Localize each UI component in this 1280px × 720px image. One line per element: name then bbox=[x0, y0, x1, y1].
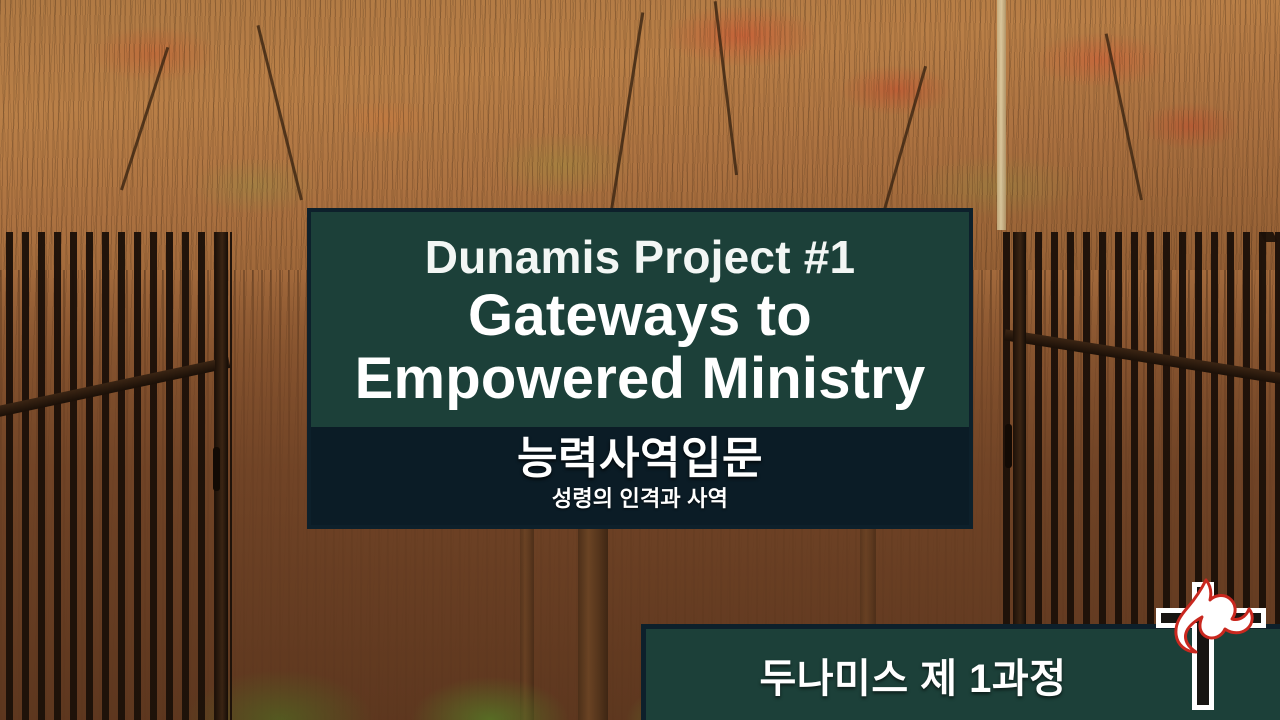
title-card-navy-section: 능력사역입문 성령의 인격과 사역 bbox=[311, 427, 969, 524]
bottom-banner-label: 두나미스 제 1과정 bbox=[759, 646, 1166, 704]
gate-latch-left bbox=[213, 447, 220, 491]
gate-latch-right bbox=[1005, 424, 1012, 468]
cross-dove-flame-icon bbox=[1148, 576, 1274, 716]
iron-gate-left bbox=[0, 232, 232, 720]
page-title-line-1: Dunamis Project #1 bbox=[325, 232, 955, 284]
slide-canvas: Dunamis Project #1 Gateways to Empowered… bbox=[0, 0, 1280, 720]
birch-trunk bbox=[997, 0, 1006, 230]
title-card-teal-section: Dunamis Project #1 Gateways to Empowered… bbox=[311, 212, 969, 427]
korean-subtitle: 성령의 인격과 사역 bbox=[325, 485, 955, 513]
shrub-center bbox=[380, 600, 600, 720]
korean-heading: 능력사역입문 bbox=[325, 433, 955, 485]
title-card: Dunamis Project #1 Gateways to Empowered… bbox=[307, 208, 973, 529]
page-title-line-2: Gateways to bbox=[325, 284, 955, 348]
gate-bars-left bbox=[0, 232, 232, 720]
page-title-line-3: Empowered Ministry bbox=[325, 347, 955, 411]
